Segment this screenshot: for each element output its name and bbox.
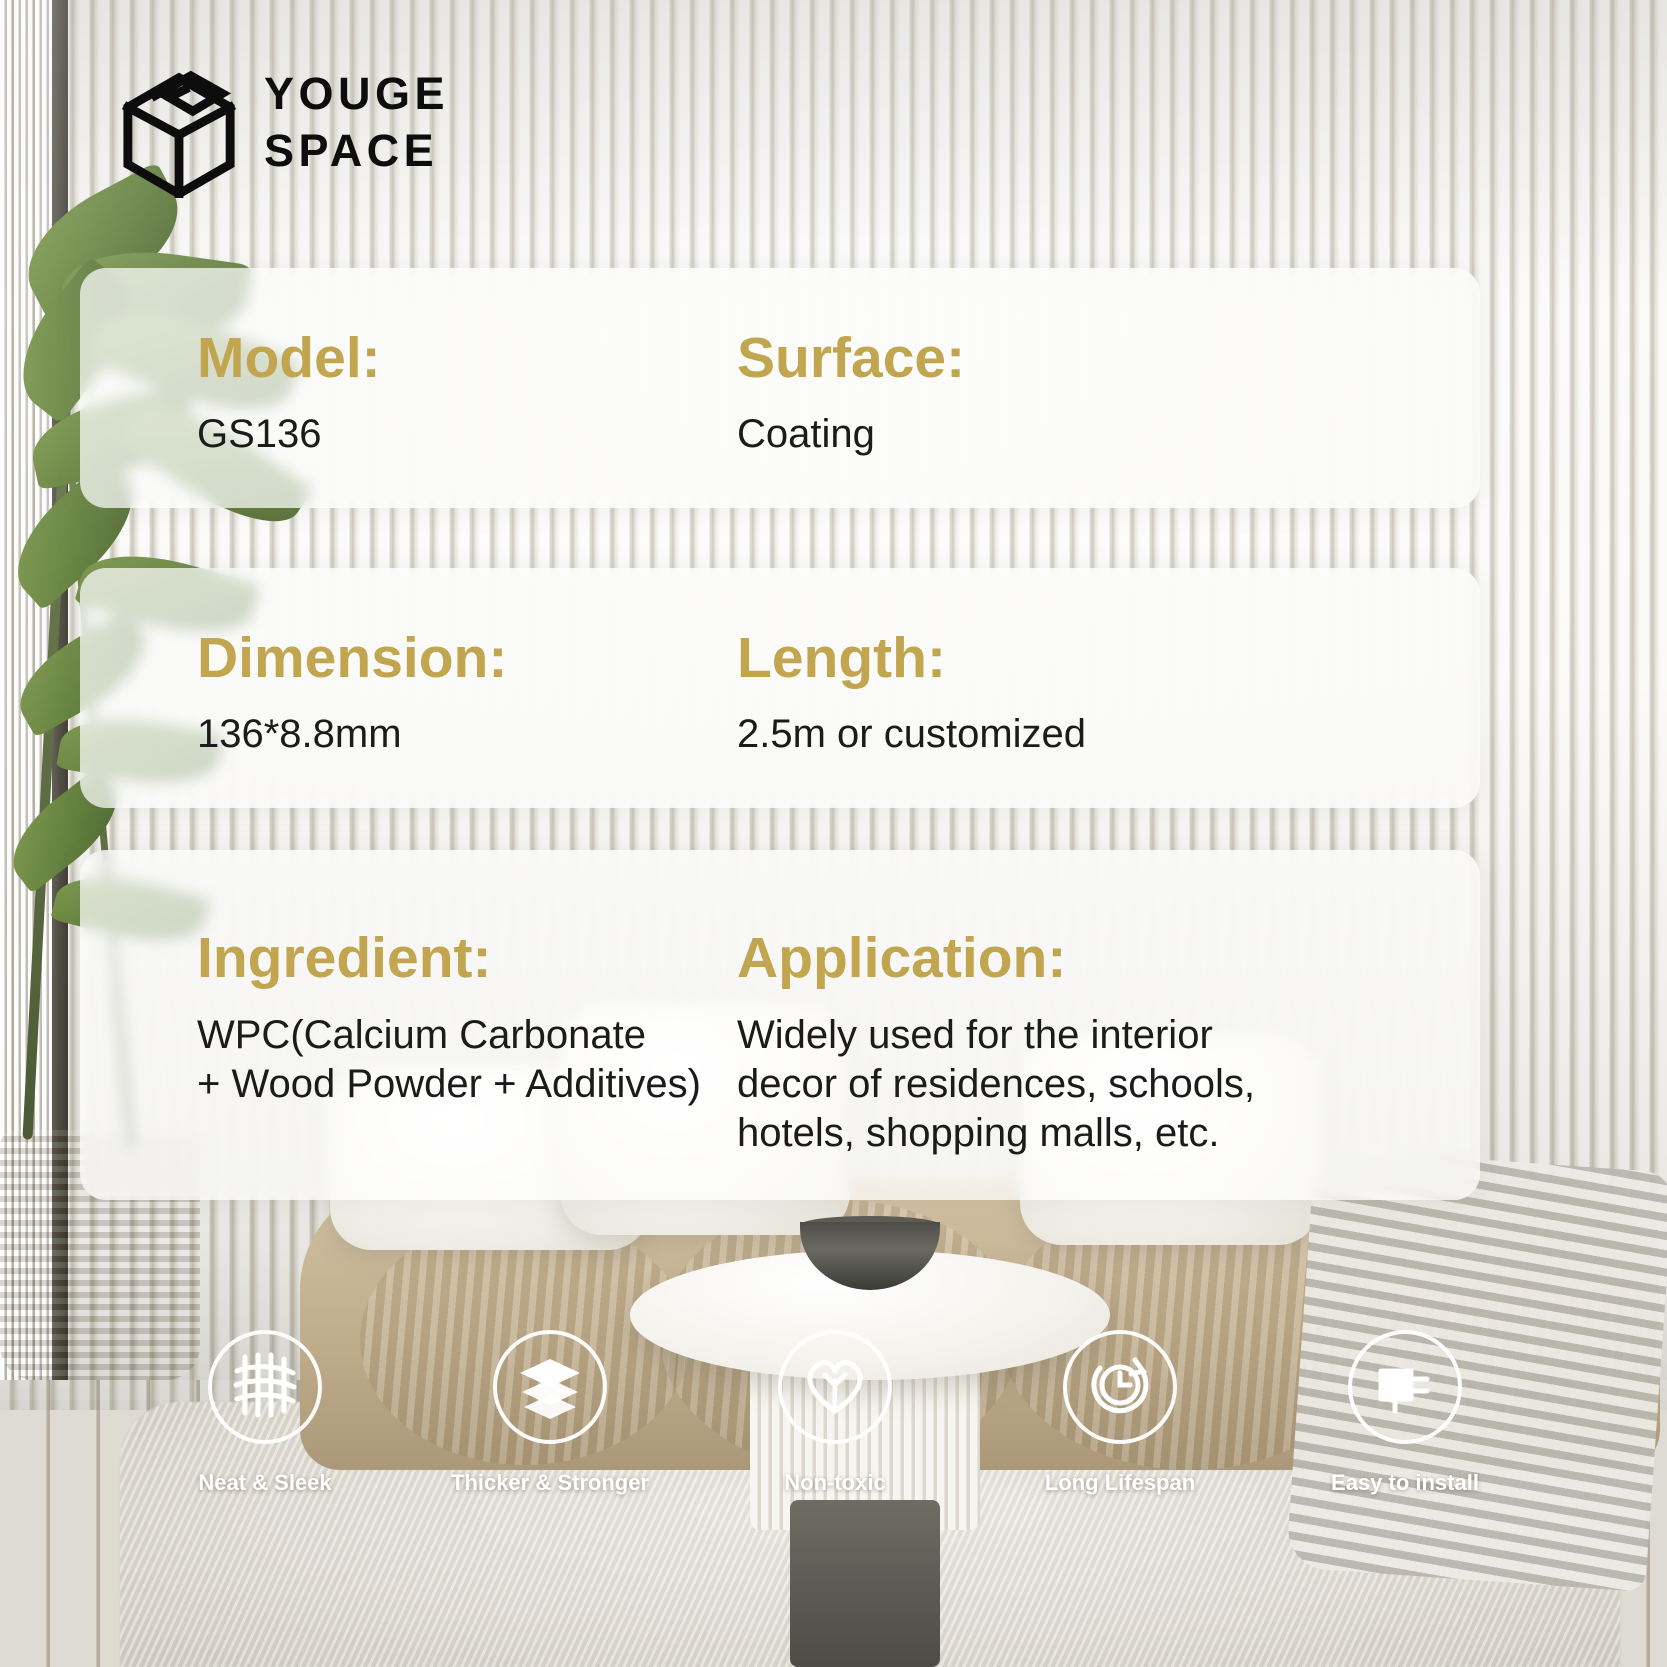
spec-block-application: Application: Widely used for the interio… xyxy=(725,850,1370,1200)
feature-label: Neat & Sleek xyxy=(198,1470,331,1496)
feature-circle xyxy=(778,1330,892,1444)
spec-label-dimension: Dimension: xyxy=(197,630,725,687)
spec-block-length: Length: 2.5m or customized xyxy=(725,568,1370,808)
spec-label-model: Model: xyxy=(197,330,725,387)
spec-value-ingredient: WPC(Calcium Carbonate + Wood Powder + Ad… xyxy=(197,1011,725,1109)
spec-value-dimension: 136*8.8mm xyxy=(197,710,725,759)
cube-box-icon xyxy=(120,48,238,198)
spec-label-application: Application: xyxy=(737,930,1370,987)
plug-install-icon xyxy=(1371,1351,1439,1424)
brand-line-2: SPACE xyxy=(264,125,438,176)
heart-leaf-icon xyxy=(801,1351,869,1424)
grid-mesh-icon xyxy=(231,1351,299,1424)
feature-label: Thicker & Stronger xyxy=(451,1470,649,1496)
feature-label: Easy to install xyxy=(1331,1470,1479,1496)
clock-cycle-icon xyxy=(1086,1351,1154,1424)
feature-thicker-stronger: Thicker & Stronger xyxy=(435,1330,665,1496)
spec-card-model-surface: Model: GS136 Surface: Coating xyxy=(80,268,1480,508)
spec-card-dimension-length: Dimension: 136*8.8mm Length: 2.5m or cus… xyxy=(80,568,1480,808)
brand-name: YOUGE SPACE xyxy=(264,66,449,179)
feature-label: Long Lifespan xyxy=(1045,1470,1195,1496)
feature-circle xyxy=(1348,1330,1462,1444)
coffee-table-base xyxy=(790,1500,940,1667)
spec-value-length: 2.5m or customized xyxy=(737,710,1370,759)
feature-label: Non-toxic xyxy=(784,1470,885,1496)
feature-circle xyxy=(1063,1330,1177,1444)
feature-long-lifespan: Long Lifespan xyxy=(1005,1330,1235,1496)
spec-block-model: Model: GS136 xyxy=(80,268,725,508)
spec-label-ingredient: Ingredient: xyxy=(197,930,725,987)
layers-stack-icon xyxy=(516,1351,584,1424)
spec-block-ingredient: Ingredient: WPC(Calcium Carbonate + Wood… xyxy=(80,850,725,1200)
feature-badges: Neat & Sleek Thicker & Stronger xyxy=(150,1330,1520,1496)
feature-easy-to-install: Easy to install xyxy=(1290,1330,1520,1496)
spec-value-model: GS136 xyxy=(197,410,725,459)
feature-circle xyxy=(208,1330,322,1444)
spec-label-length: Length: xyxy=(737,630,1370,687)
spec-block-dimension: Dimension: 136*8.8mm xyxy=(80,568,725,808)
brand-logo: YOUGE SPACE xyxy=(120,48,449,198)
feature-neat-sleek: Neat & Sleek xyxy=(150,1330,380,1496)
spec-card-ingredient-application: Ingredient: WPC(Calcium Carbonate + Wood… xyxy=(80,850,1480,1200)
spec-value-surface: Coating xyxy=(737,410,1370,459)
feature-circle xyxy=(493,1330,607,1444)
spec-block-surface: Surface: Coating xyxy=(725,268,1370,508)
brand-line-1: YOUGE xyxy=(264,68,449,119)
spec-value-application: Widely used for the interior decor of re… xyxy=(737,1011,1370,1157)
feature-non-toxic: Non-toxic xyxy=(720,1330,950,1496)
spec-label-surface: Surface: xyxy=(737,330,1370,387)
